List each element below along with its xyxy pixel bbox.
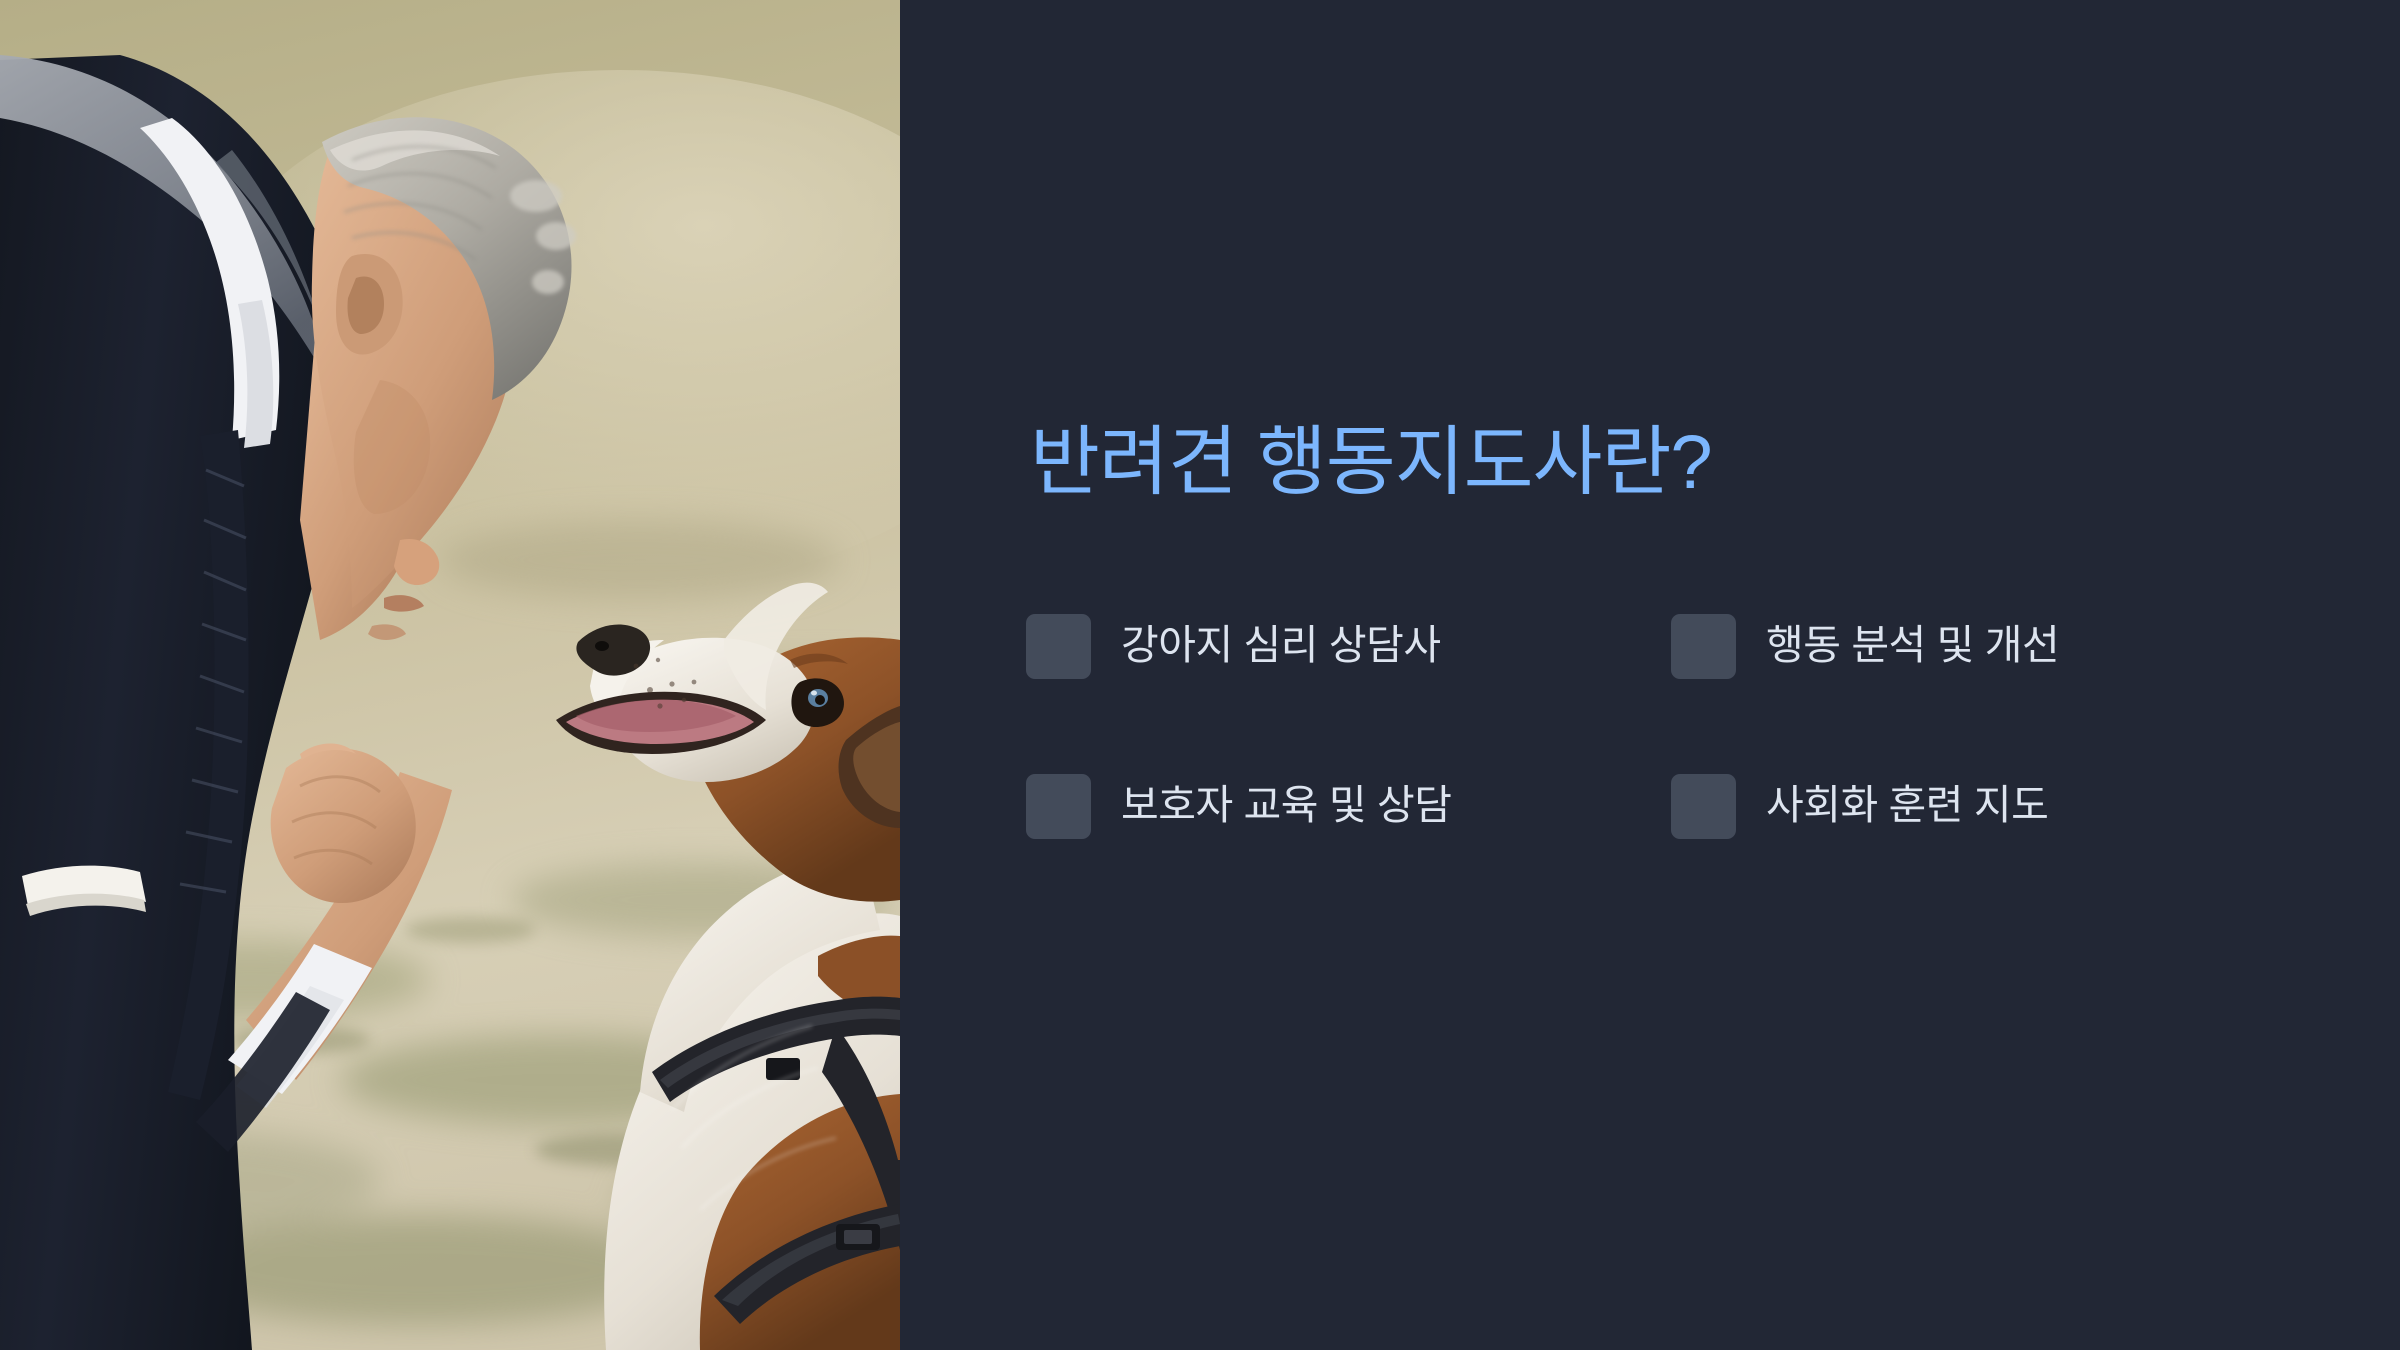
slide-photo [0, 0, 900, 1350]
bullet-marker-icon [1671, 774, 1736, 839]
bullet-item-2[interactable]: 행동 분석 및 개선 [1671, 610, 2316, 682]
bullet-marker-icon [1026, 614, 1091, 679]
photo-illustration [0, 0, 900, 1350]
bullet-marker-icon [1026, 774, 1091, 839]
bullet-item-3[interactable]: 보호자 교육 및 상담 [1026, 770, 1671, 842]
bullet-marker-icon [1671, 614, 1736, 679]
bullet-label: 행동 분석 및 개선 [1766, 621, 2059, 670]
bullet-label: 강아지 심리 상담사 [1121, 621, 1441, 670]
bullet-label: 사회화 훈련 지도 [1766, 781, 2048, 830]
page-title: 반려견 행동지도사란? [1030, 420, 1712, 505]
presentation-slide: 반려견 행동지도사란? 강아지 심리 상담사 행동 분석 및 개선 보호자 교육… [0, 0, 2400, 1350]
bullet-item-4[interactable]: 사회화 훈련 지도 [1671, 770, 2316, 842]
bullet-label: 보호자 교육 및 상담 [1121, 781, 1451, 830]
slide-content-panel: 반려견 행동지도사란? 강아지 심리 상담사 행동 분석 및 개선 보호자 교육… [900, 0, 2400, 1350]
bullet-item-1[interactable]: 강아지 심리 상담사 [1026, 610, 1671, 682]
bullet-grid: 강아지 심리 상담사 행동 분석 및 개선 보호자 교육 및 상담 사회화 훈련… [1026, 610, 2346, 930]
